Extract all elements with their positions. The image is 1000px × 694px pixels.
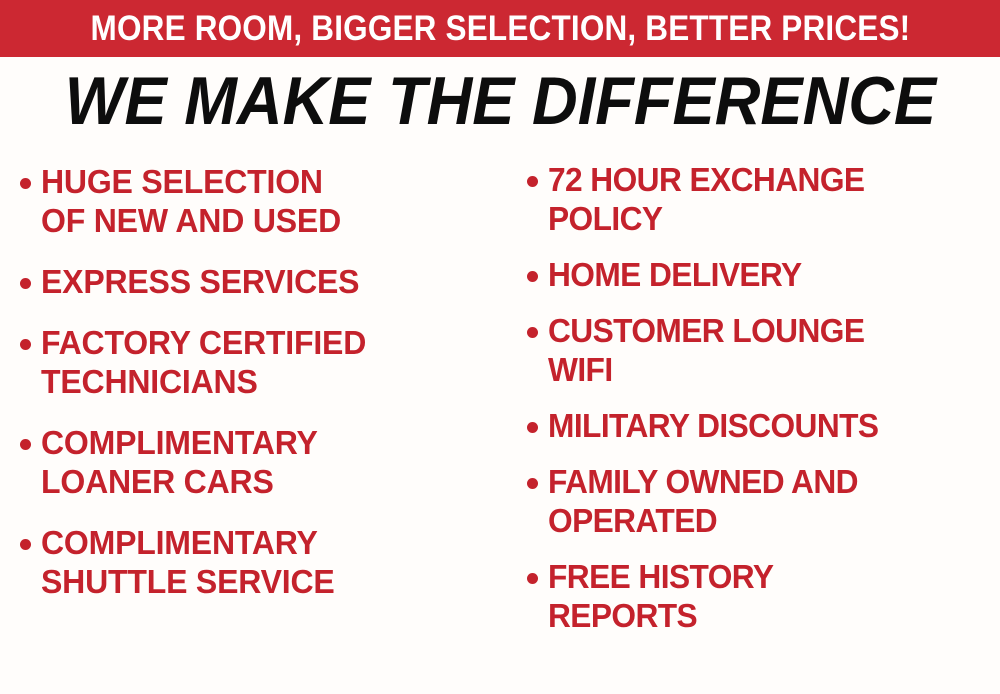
bullet-dot-icon bbox=[20, 539, 31, 550]
bullet-dot-icon bbox=[527, 176, 538, 187]
bullet-dot-icon bbox=[527, 478, 538, 489]
list-item: HUGE SELECTION OF NEW AND USED bbox=[20, 162, 505, 240]
main-headline-area: WE MAKE THE DIFFERENCE bbox=[0, 62, 1000, 140]
bullet-dot-icon bbox=[527, 422, 538, 433]
top-banner: MORE ROOM, BIGGER SELECTION, BETTER PRIC… bbox=[0, 0, 1000, 57]
list-item: COMPLIMENTARY LOANER CARS bbox=[20, 423, 505, 501]
list-item-label: HUGE SELECTION OF NEW AND USED bbox=[41, 162, 341, 240]
benefits-columns: HUGE SELECTION OF NEW AND USED EXPRESS S… bbox=[0, 152, 1000, 694]
bullet-dot-icon bbox=[20, 439, 31, 450]
list-item: MILITARY DISCOUNTS bbox=[527, 406, 1000, 445]
list-item: 72 HOUR EXCHANGE POLICY bbox=[527, 160, 1000, 238]
list-item-label: COMPLIMENTARY LOANER CARS bbox=[41, 423, 318, 501]
list-item-label: COMPLIMENTARY SHUTTLE SERVICE bbox=[41, 523, 335, 601]
list-item: FAMILY OWNED AND OPERATED bbox=[527, 462, 1000, 540]
bullet-dot-icon bbox=[20, 178, 31, 189]
bullet-dot-icon bbox=[527, 271, 538, 282]
list-item-label: CUSTOMER LOUNGE WIFI bbox=[548, 311, 864, 389]
list-item: COMPLIMENTARY SHUTTLE SERVICE bbox=[20, 523, 505, 601]
list-item: FACTORY CERTIFIED TECHNICIANS bbox=[20, 323, 505, 401]
benefits-column-right: 72 HOUR EXCHANGE POLICY HOME DELIVERY CU… bbox=[505, 152, 1000, 694]
list-item-label: FAMILY OWNED AND OPERATED bbox=[548, 462, 858, 540]
list-item-label: 72 HOUR EXCHANGE POLICY bbox=[548, 160, 864, 238]
list-item-label: HOME DELIVERY bbox=[548, 255, 802, 294]
list-item-label: MILITARY DISCOUNTS bbox=[548, 406, 878, 445]
benefits-column-left: HUGE SELECTION OF NEW AND USED EXPRESS S… bbox=[0, 152, 505, 694]
list-item: EXPRESS SERVICES bbox=[20, 262, 505, 301]
promotional-poster: MORE ROOM, BIGGER SELECTION, BETTER PRIC… bbox=[0, 0, 1000, 694]
bullet-dot-icon bbox=[527, 327, 538, 338]
bullet-dot-icon bbox=[20, 278, 31, 289]
list-item-label: EXPRESS SERVICES bbox=[41, 262, 359, 301]
list-item-label: FREE HISTORY REPORTS bbox=[548, 557, 773, 635]
list-item: HOME DELIVERY bbox=[527, 255, 1000, 294]
list-item: CUSTOMER LOUNGE WIFI bbox=[527, 311, 1000, 389]
bullet-dot-icon bbox=[527, 573, 538, 584]
page-title: WE MAKE THE DIFFERENCE bbox=[64, 66, 935, 136]
bullet-dot-icon bbox=[20, 339, 31, 350]
banner-headline-text: MORE ROOM, BIGGER SELECTION, BETTER PRIC… bbox=[90, 11, 910, 46]
list-item-label: FACTORY CERTIFIED TECHNICIANS bbox=[41, 323, 366, 401]
list-item: FREE HISTORY REPORTS bbox=[527, 557, 1000, 635]
